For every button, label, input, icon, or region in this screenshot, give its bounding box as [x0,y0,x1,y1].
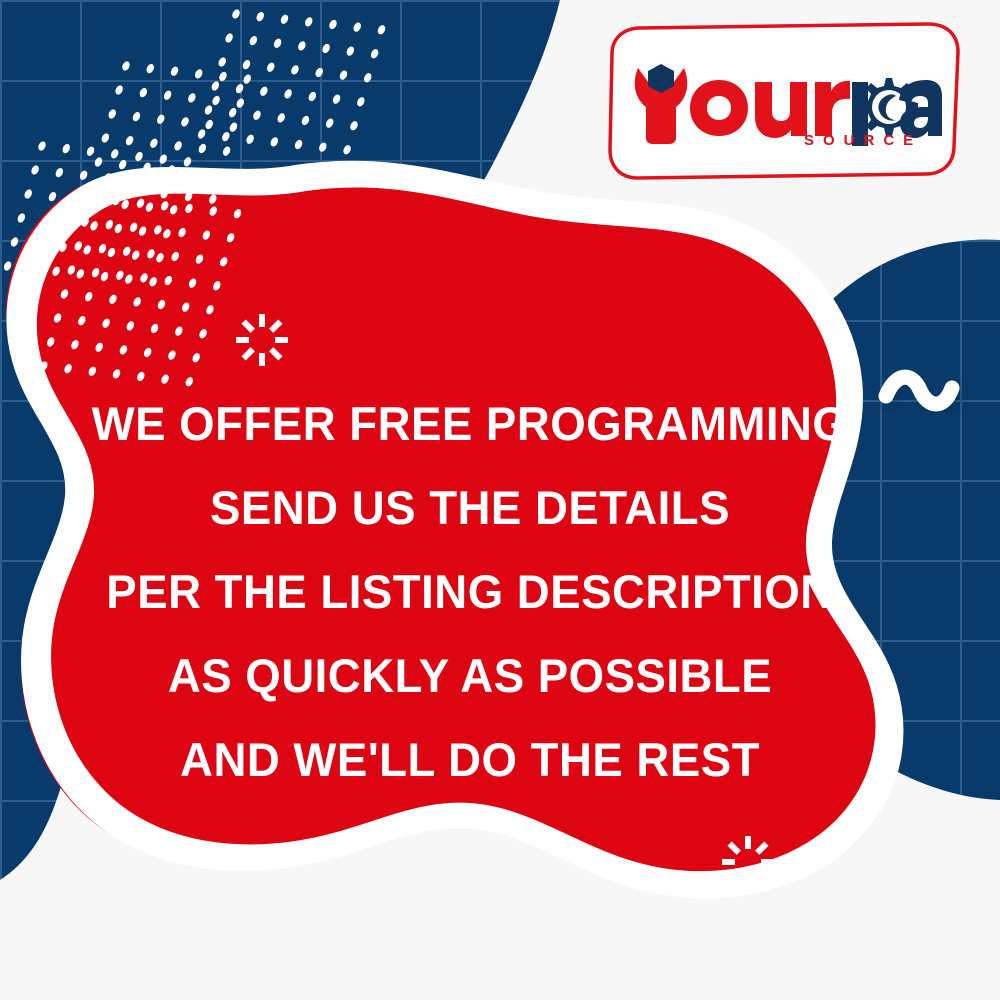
red-blob [37,188,876,872]
promotional-poster: WE OFFER FREE PROGRAMMING SEND US THE DE… [0,0,1000,1000]
logo-tagline: SOURCE [804,132,922,149]
logo-letters-our [690,80,850,138]
brand-logo[interactable]: SOURCE [598,22,966,180]
